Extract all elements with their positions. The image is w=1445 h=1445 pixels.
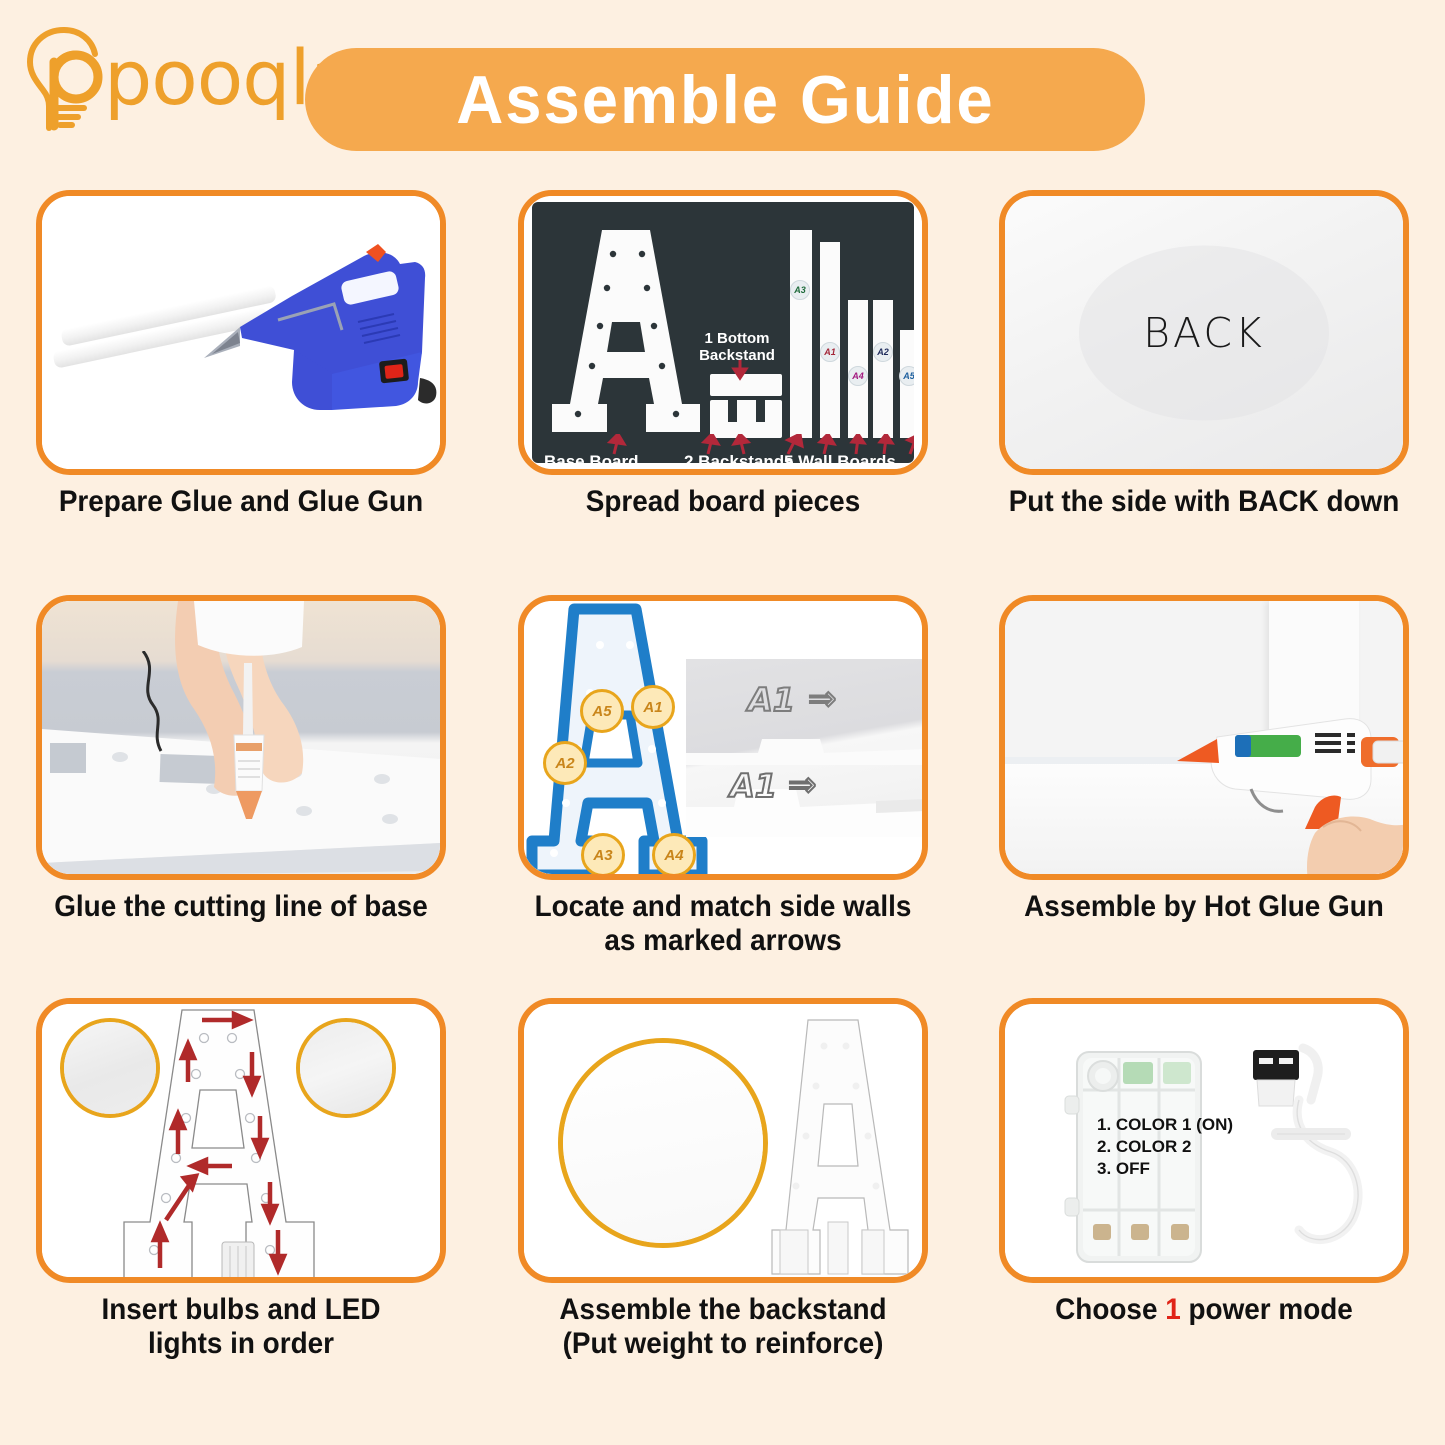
blue-glue-gun-icon bbox=[182, 234, 440, 439]
power-modes-list: 1. COLOR 1 (ON) 2. COLOR 2 3. OFF bbox=[1097, 1114, 1233, 1179]
step-caption-6: Assemble by Hot Glue Gun bbox=[999, 890, 1408, 924]
step-cell-3: BACK Put the side with BACK down bbox=[963, 190, 1445, 519]
piece-badge-a1: A1 bbox=[820, 342, 840, 362]
power-mode-3: 3. OFF bbox=[1097, 1158, 1233, 1180]
wall-board-a1 bbox=[820, 242, 840, 438]
base-board-label: Base Board bbox=[544, 452, 638, 463]
step-caption-7: Insert bulbs and LED lights in order bbox=[36, 1293, 445, 1360]
inset-photo-bulb-screw bbox=[296, 1018, 396, 1118]
step-image-8 bbox=[524, 1004, 922, 1277]
step-image-4 bbox=[42, 601, 440, 874]
letter-a-with-backstand bbox=[762, 1016, 912, 1277]
step-caption-5-line2: as marked arrows bbox=[518, 924, 927, 958]
backstand-piece bbox=[710, 400, 782, 438]
step-image-2: A3 A1 A2 A4 A5 1 Bottom Backstand bbox=[524, 196, 922, 469]
steps-grid: Prepare Glue and Glue Gun bbox=[0, 190, 1445, 1445]
power-mode-2: 2. COLOR 2 bbox=[1097, 1136, 1233, 1158]
step-caption-4: Glue the cutting line of base bbox=[36, 890, 445, 924]
step-card-5: A5 A1 A2 A3 A4 bbox=[518, 595, 928, 880]
step-caption-1: Prepare Glue and Glue Gun bbox=[36, 485, 445, 519]
lightbulb-p-icon bbox=[18, 22, 110, 134]
a1-mark-top: A1 bbox=[748, 681, 795, 719]
step-card-6 bbox=[999, 595, 1409, 880]
usb-cable-icon bbox=[1237, 1042, 1387, 1262]
inset-photo-bulb-insert bbox=[60, 1018, 160, 1118]
arrow-right-icon-bottom: ⇒ bbox=[788, 765, 817, 805]
step-image-3: BACK bbox=[1005, 196, 1403, 469]
step-card-2: A3 A1 A2 A4 A5 1 Bottom Backstand bbox=[518, 190, 928, 475]
backstands-label: 2 Backstands bbox=[684, 452, 794, 463]
step-cell-8: Assemble the backstand (Put weight to re… bbox=[482, 998, 964, 1360]
white-glue-gun-icon bbox=[222, 663, 282, 823]
step-caption-8-line2: (Put weight to reinforce) bbox=[518, 1327, 927, 1361]
step-caption-5: Locate and match side walls as marked ar… bbox=[518, 890, 927, 957]
hand-photo bbox=[1305, 787, 1403, 874]
step-cell-5: A5 A1 A2 A3 A4 bbox=[482, 595, 964, 957]
step-caption-9-pre: Choose bbox=[1055, 1293, 1165, 1326]
wall-boards-label: 5 Wall Boards bbox=[784, 452, 896, 463]
wall-board-a3 bbox=[790, 230, 812, 438]
wall-badge-a5: A5 bbox=[580, 689, 624, 733]
step-card-7 bbox=[36, 998, 446, 1283]
step-card-1 bbox=[36, 190, 446, 475]
wall-badge-a3: A3 bbox=[581, 833, 625, 874]
step-cell-4: Glue the cutting line of base bbox=[0, 595, 482, 924]
page-title: Assemble Guide bbox=[456, 61, 994, 139]
inset-photo-water-weight bbox=[558, 1038, 768, 1248]
step-caption-3: Put the side with BACK down bbox=[999, 485, 1408, 519]
step-caption-9-highlight: 1 bbox=[1165, 1293, 1181, 1326]
step-card-9: 1. COLOR 1 (ON) 2. COLOR 2 3. OFF bbox=[999, 998, 1409, 1283]
step-cell-9: 1. COLOR 1 (ON) 2. COLOR 2 3. OFF bbox=[963, 998, 1445, 1327]
wall-badge-a2: A2 bbox=[543, 741, 587, 785]
page-header: pooqla Assemble Guide bbox=[0, 0, 1445, 190]
step-card-8 bbox=[518, 998, 928, 1283]
step-image-1 bbox=[42, 196, 440, 469]
step-cell-2: A3 A1 A2 A4 A5 1 Bottom Backstand bbox=[482, 190, 964, 519]
step-caption-7-line2: lights in order bbox=[36, 1327, 445, 1361]
piece-badge-a3: A3 bbox=[790, 280, 810, 300]
step-caption-2: Spread board pieces bbox=[518, 485, 927, 519]
back-label-text: BACK bbox=[1143, 309, 1265, 357]
step-image-5: A5 A1 A2 A3 A4 bbox=[524, 601, 922, 874]
step-card-3: BACK bbox=[999, 190, 1409, 475]
piece-badge-a4: A4 bbox=[848, 366, 868, 386]
step-caption-8: Assemble the backstand (Put weight to re… bbox=[518, 1293, 927, 1360]
step-caption-5-line1: Locate and match side walls bbox=[518, 890, 927, 924]
piece-badge-a5: A5 bbox=[899, 366, 914, 386]
bottom-backstand-arrow-icon bbox=[682, 360, 792, 382]
step-cell-6: Assemble by Hot Glue Gun bbox=[963, 595, 1445, 924]
wall-badge-a1: A1 bbox=[631, 685, 675, 729]
step-cell-7: Insert bulbs and LED lights in order bbox=[0, 998, 482, 1360]
step-caption-9: Choose 1 power mode bbox=[999, 1293, 1408, 1327]
piece-badge-a2: A2 bbox=[873, 342, 893, 362]
board-edge-icon bbox=[686, 735, 922, 765]
step-image-6 bbox=[1005, 601, 1403, 874]
wall-board-a2 bbox=[873, 300, 893, 438]
step-caption-8-line1: Assemble the backstand bbox=[518, 1293, 927, 1327]
arrow-right-icon-top: ⇒ bbox=[808, 679, 837, 719]
brand-logo: pooqla bbox=[18, 18, 288, 138]
wall-board-arrow-photo: A1 ⇒ A1 ⇒ bbox=[686, 659, 922, 837]
board-pieces-diagram: A3 A1 A2 A4 A5 1 Bottom Backstand bbox=[532, 202, 914, 463]
wall-badge-a4: A4 bbox=[652, 833, 696, 874]
power-mode-1: 1. COLOR 1 (ON) bbox=[1097, 1114, 1233, 1136]
step-cell-1: Prepare Glue and Glue Gun bbox=[0, 190, 482, 519]
step-caption-7-line1: Insert bulbs and LED bbox=[36, 1293, 445, 1327]
step-card-4 bbox=[36, 595, 446, 880]
a1-mark-bottom: A1 bbox=[730, 767, 777, 805]
step-caption-9-post: power mode bbox=[1181, 1293, 1353, 1326]
letter-a-wall-outline bbox=[526, 603, 712, 874]
base-board-letter-a bbox=[550, 226, 700, 438]
step-image-9: 1. COLOR 1 (ON) 2. COLOR 2 3. OFF bbox=[1005, 1004, 1403, 1277]
title-banner: Assemble Guide bbox=[305, 48, 1145, 151]
step-image-7 bbox=[42, 1004, 440, 1277]
